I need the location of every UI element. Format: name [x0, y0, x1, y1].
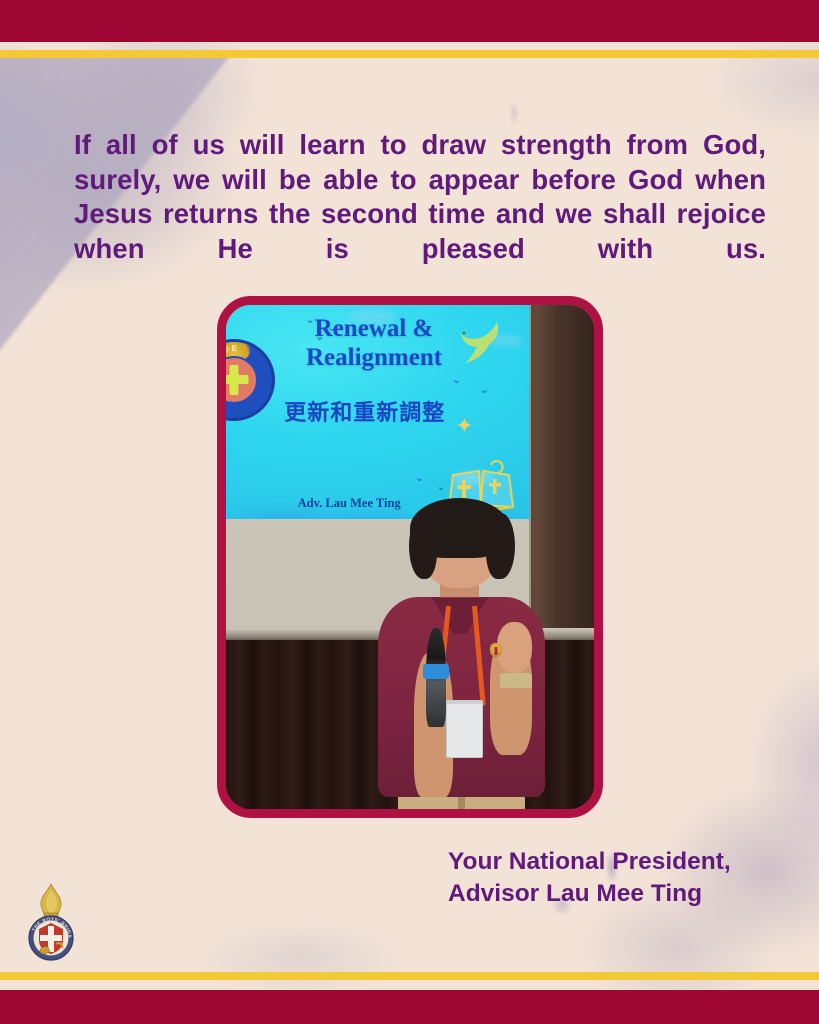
photo-image: BRIGADE ⌄ ⌄ ⌄ ⌄ ⌄ ⌄ [226, 305, 594, 809]
speaker-hair-left [409, 513, 437, 580]
signature-block: Your National President, Advisor Lau Mee… [448, 846, 778, 911]
signature-line-1: Your National President, [448, 846, 778, 878]
poster-canvas: If all of us will learn to draw strength… [0, 0, 819, 1024]
microphone-ring [423, 664, 449, 679]
bottom-gold-rule [0, 972, 819, 980]
signature-line-2: Advisor Lau Mee Ting [448, 878, 778, 910]
id-badge [446, 700, 483, 757]
top-gold-rule [0, 50, 819, 58]
bird-icon-6: ⌄ [415, 472, 424, 483]
speaker-photo-card: BRIGADE ⌄ ⌄ ⌄ ⌄ ⌄ ⌄ [217, 296, 603, 818]
svg-text:BRIGADE: BRIGADE [226, 341, 247, 385]
speaker-hair-right [486, 513, 514, 580]
logo-ring-label: BRIGADE [226, 341, 247, 385]
top-maroon-band [0, 0, 819, 42]
slide-title-line2: Realignment [262, 343, 486, 372]
bird-icon-5: ⌄ [480, 384, 489, 395]
speaker-watch [500, 673, 532, 688]
boys-brigade-emblem-icon: THE BOYS' BRIGADE [20, 882, 82, 962]
bottom-maroon-band [0, 990, 819, 1024]
slide-title: Renewal & Realignment [262, 314, 486, 372]
slide-title-line1: Renewal & [262, 314, 486, 343]
quote-text: If all of us will learn to draw strength… [74, 128, 766, 301]
presentation-slide: BRIGADE ⌄ ⌄ ⌄ ⌄ ⌄ ⌄ [226, 305, 529, 519]
uniform-pin-icon [490, 643, 502, 657]
slide-title-chinese: 更新和重新調整 [250, 395, 480, 427]
speaker-right-hand [497, 622, 532, 673]
watercolor-speck-c [509, 100, 519, 126]
speaker-figure [373, 507, 550, 809]
bird-icon-4: ⌄ [452, 374, 461, 385]
